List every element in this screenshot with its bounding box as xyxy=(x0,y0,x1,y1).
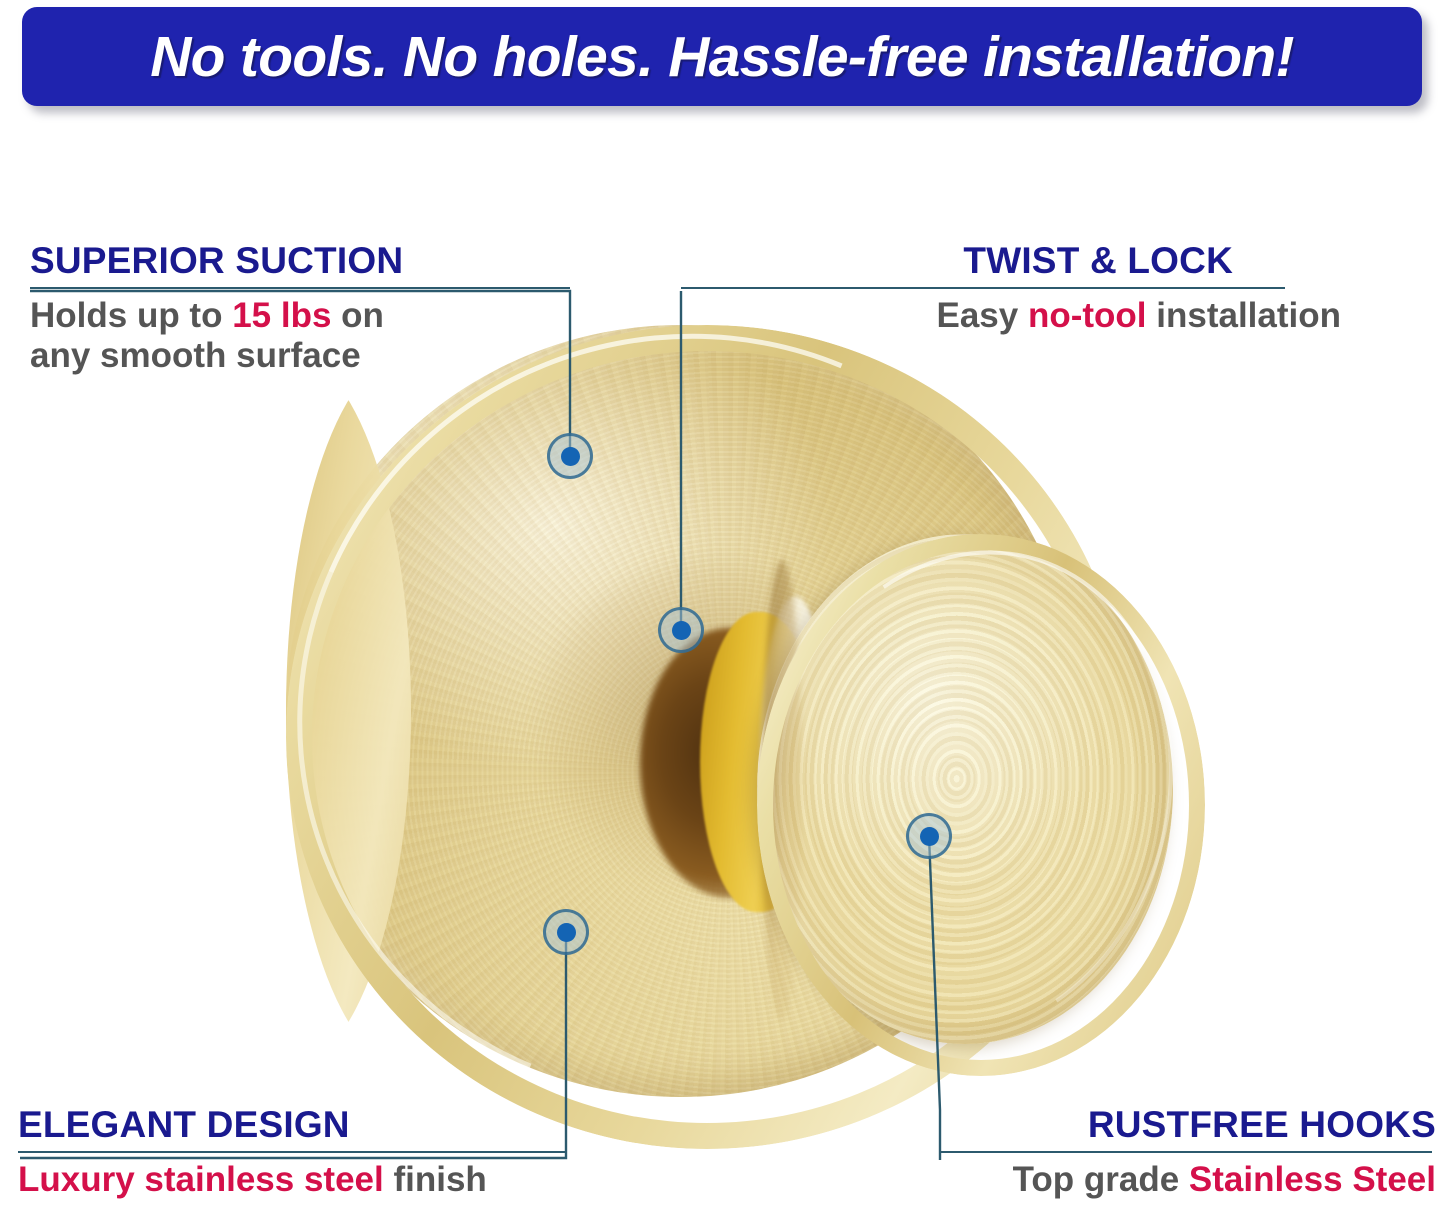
neck-recess-shadow xyxy=(640,628,820,898)
body-text-highlight: Luxury stainless steel xyxy=(18,1160,384,1199)
callout-title-elegant-design: ELEGANT DESIGN xyxy=(18,1106,570,1145)
marker-twist-lock[interactable] xyxy=(658,607,704,653)
callout-body-rustfree-hooks: Top grade Stainless Steel xyxy=(940,1160,1436,1201)
knob-edge-highlight xyxy=(716,507,1223,1081)
knob-cap xyxy=(757,534,1173,1044)
base-outer-rim xyxy=(286,325,1128,1149)
base-side-wall xyxy=(286,352,536,1070)
body-text-plain-2: installation xyxy=(1147,296,1341,335)
callout-superior-suction: SUPERIOR SUCTION Holds up to 15 lbs on a… xyxy=(30,242,570,377)
body-text-highlight: 15 lbs xyxy=(232,296,331,335)
headline-banner: No tools. No holes. Hassle-free installa… xyxy=(22,7,1422,106)
callout-elegant-design: ELEGANT DESIGN Luxury stainless steel fi… xyxy=(18,1106,570,1200)
callout-body-superior-suction: Holds up to 15 lbs on any smooth surface xyxy=(30,296,570,377)
callout-rule-elegant-design xyxy=(18,1151,566,1153)
callout-title-rustfree-hooks: RUSTFREE HOOKS xyxy=(940,1106,1436,1145)
knob-base-seam xyxy=(762,560,802,1020)
marker-rustfree-hooks[interactable] xyxy=(906,813,952,859)
callout-title-superior-suction: SUPERIOR SUCTION xyxy=(30,242,570,281)
suction-base-disc xyxy=(286,325,1076,1097)
body-text-plain: Holds up to xyxy=(30,296,232,335)
knob-turned-rings xyxy=(757,534,1173,1044)
base-inner-shadow xyxy=(540,560,870,890)
body-text-plain: finish xyxy=(384,1160,487,1199)
knob-bevel-lip xyxy=(757,534,1205,1076)
product-image xyxy=(0,0,1445,1214)
body-text-plain: Top grade xyxy=(1013,1160,1189,1199)
body-text-plain-2: on xyxy=(331,296,383,335)
callout-body-elegant-design: Luxury stainless steel finish xyxy=(18,1160,570,1201)
callout-markers xyxy=(0,0,1445,1214)
base-ring-texture xyxy=(286,325,1076,1097)
knob-turned-rings-coarse xyxy=(757,534,1173,1044)
callout-rustfree-hooks: RUSTFREE HOOKS Top grade Stainless Steel xyxy=(940,1106,1436,1200)
callout-rule-twist-lock xyxy=(681,287,1285,289)
callout-title-twist-lock: TWIST & LOCK xyxy=(681,242,1341,281)
callout-rule-rustfree-hooks xyxy=(940,1151,1432,1153)
callout-body-twist-lock: Easy no-tool installation xyxy=(681,296,1341,337)
infographic-canvas: No tools. No holes. Hassle-free installa… xyxy=(0,0,1445,1214)
body-text-highlight: Stainless Steel xyxy=(1189,1160,1436,1199)
marker-superior-suction[interactable] xyxy=(547,433,593,479)
body-text-line2: any smooth surface xyxy=(30,336,361,375)
body-text-plain: Easy xyxy=(937,296,1028,335)
leader-rustfree-hooks xyxy=(929,836,940,1160)
knob-stem xyxy=(700,612,822,912)
callout-rule-superior-suction xyxy=(30,287,570,289)
body-text-highlight: no-tool xyxy=(1028,296,1147,335)
knob-stem-highlight xyxy=(760,596,830,936)
marker-elegant-design[interactable] xyxy=(543,909,589,955)
headline-text: No tools. No holes. Hassle-free installa… xyxy=(150,24,1294,90)
leader-lines xyxy=(0,0,1445,1214)
callout-twist-lock: TWIST & LOCK Easy no-tool installation xyxy=(681,242,1341,336)
base-brushed-texture xyxy=(286,325,1076,1097)
